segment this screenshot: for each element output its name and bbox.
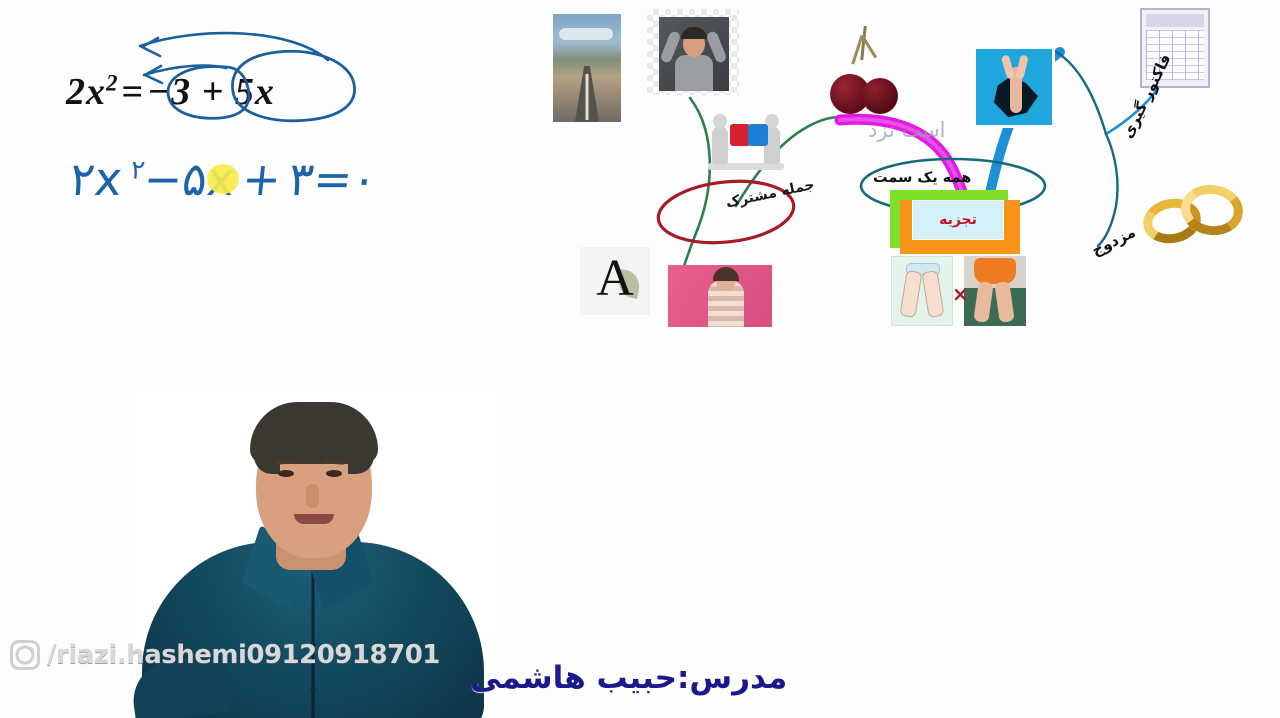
hand-plus: + (240, 152, 292, 206)
cherries-photo (822, 22, 908, 120)
puzzle-figures-photo (700, 112, 792, 174)
instagram-watermark: /riazi.hashemi09120918701 (10, 640, 440, 670)
equation-annotations (40, 20, 440, 150)
hand-minus: − (141, 152, 185, 206)
hand-zero: ۰ (349, 152, 379, 206)
pink-background-woman-photo (668, 265, 772, 327)
peace-hand-blue-photo (973, 46, 1055, 128)
factoring-box: تجزیه (890, 186, 1020, 254)
cross-mark-icon: × (952, 282, 969, 306)
hand-variable: x (92, 152, 133, 206)
letter-a-glyph: A (580, 253, 650, 305)
mind-map: A × است نزد جمله مشترک همه یک سمت تجزیه (540, 0, 1280, 350)
letter-a-photo: A (580, 247, 650, 315)
watermark-handle: /riazi.hashemi09120918701 (47, 640, 440, 670)
label-factoring: تجزیه (913, 212, 1003, 228)
video-frame: 2x2=−3 + 5x ۲x۲−۵x+۳=۰ (0, 0, 1280, 718)
instagram-icon (10, 640, 40, 670)
hand-equals: = (311, 152, 355, 206)
faint-background-text: است نزد (868, 118, 946, 142)
label-all-one-side: همه یک سمت (873, 170, 971, 186)
bow-legs-diagram-photo (891, 256, 953, 326)
yellow-highlight-dot (207, 164, 239, 194)
road-landscape-photo (553, 14, 621, 122)
wedding-rings-photo (1137, 175, 1247, 253)
baby-legs-photo (964, 256, 1026, 326)
excited-man-photo (647, 9, 739, 95)
instructor-name-label: مدرس:حبیب هاشمی (470, 660, 787, 696)
